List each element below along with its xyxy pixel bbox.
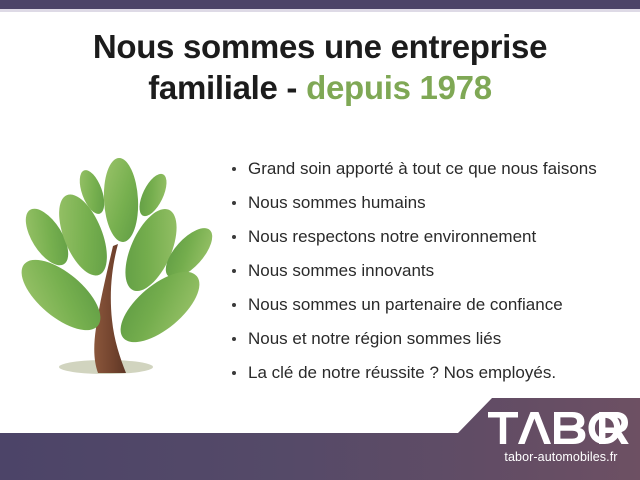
value-bullet-list: Grand soin apporté à tout ce que nous fa… [231, 152, 631, 390]
bullet-dot-icon [232, 337, 236, 341]
headline-line-1: Nous sommes une entreprise [0, 26, 640, 67]
bullet-dot-icon [232, 371, 236, 375]
list-item-label: Nous respectons notre environnement [248, 227, 536, 246]
headline-line-2: familiale -depuis 1978 [0, 67, 640, 108]
list-item-label: Nous sommes innovants [248, 261, 434, 280]
list-item: Grand soin apporté à tout ce que nous fa… [231, 152, 631, 186]
list-item: Nous respectons notre environnement [231, 220, 631, 254]
list-item: Nous sommes innovants [231, 254, 631, 288]
tree-icon [8, 152, 228, 390]
list-item-label: La clé de notre réussite ? Nos employés. [248, 363, 556, 382]
bullet-dot-icon [232, 269, 236, 273]
slide-canvas: Nous sommes une entreprise familiale -de… [0, 0, 640, 480]
top-accent-hairline [0, 9, 640, 12]
list-item: Nous et notre région sommes liés [231, 322, 631, 356]
headline-line-2-black: familiale - [148, 69, 297, 106]
tree-illustration [8, 152, 228, 390]
top-accent-strip [0, 0, 640, 9]
list-item-label: Nous et notre région sommes liés [248, 329, 501, 348]
list-item-label: Nous sommes un partenaire de confiance [248, 295, 563, 314]
list-item-label: Grand soin apporté à tout ce que nous fa… [248, 159, 597, 178]
bullet-dot-icon [232, 235, 236, 239]
bullet-dot-icon [232, 201, 236, 205]
list-item: Nous sommes humains [231, 186, 631, 220]
list-item: La clé de notre réussite ? Nos employés. [231, 356, 631, 390]
bullet-dot-icon [232, 167, 236, 171]
list-item: Nous sommes un partenaire de confiance [231, 288, 631, 322]
leaf-center-top [102, 157, 140, 243]
brand-logo[interactable]: tabor-automobiles.fr [488, 412, 634, 464]
headline-line-2-accent: depuis 1978 [306, 69, 492, 106]
list-item-label: Nous sommes humains [248, 193, 426, 212]
tabor-wordmark-icon [488, 412, 634, 444]
logo-url-text: tabor-automobiles.fr [488, 450, 634, 464]
bullet-dot-icon [232, 303, 236, 307]
headline: Nous sommes une entreprise familiale -de… [0, 26, 640, 108]
